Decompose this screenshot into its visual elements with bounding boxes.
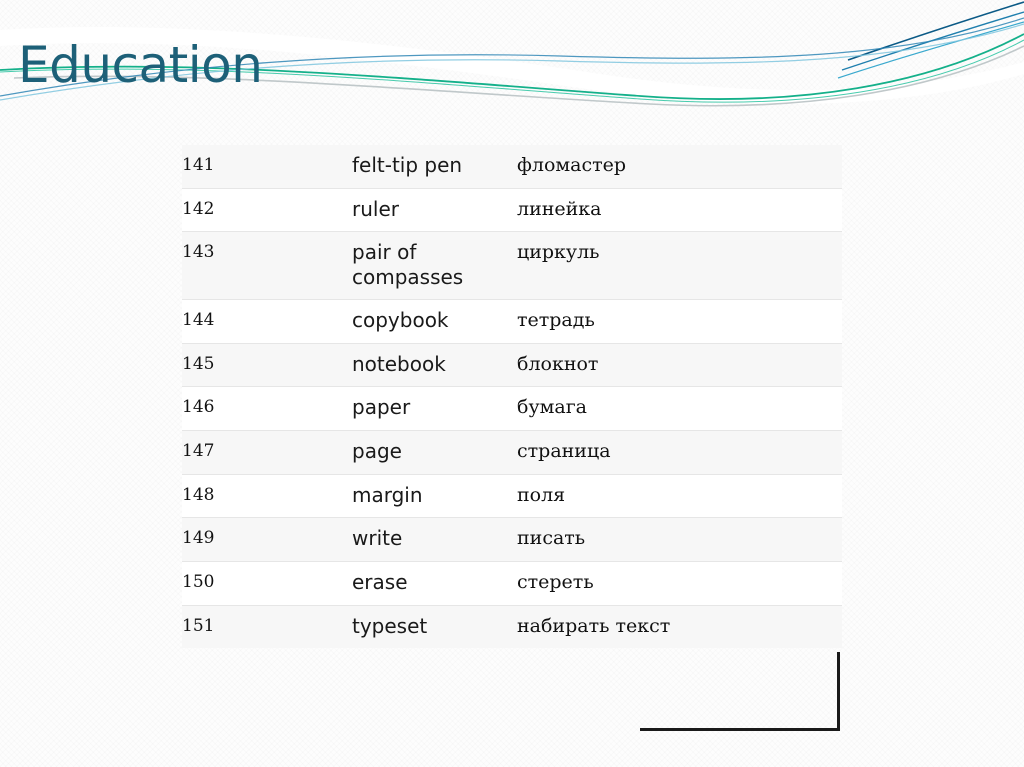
table-row: 147pageстраница xyxy=(182,430,842,474)
table-row: 145notebookблокнот xyxy=(182,343,842,387)
vocabulary-table: 141felt-tip penфломастер142rulerлинейка1… xyxy=(182,145,842,648)
row-number: 150 xyxy=(182,561,352,605)
table-row: 151typesetнабирать текст xyxy=(182,605,842,648)
row-term-russian: стереть xyxy=(517,561,842,605)
table-row: 146paperбумага xyxy=(182,387,842,431)
slide: Education 141felt-tip penфломастер142rul… xyxy=(0,0,1024,767)
corner-frame-shape xyxy=(640,652,840,731)
row-term-english: margin xyxy=(352,474,517,518)
row-term-russian: бумага xyxy=(517,387,842,431)
vocabulary-table-body: 141felt-tip penфломастер142rulerлинейка1… xyxy=(182,145,842,648)
row-term-russian: линейка xyxy=(517,188,842,232)
row-number: 148 xyxy=(182,474,352,518)
row-term-english: notebook xyxy=(352,343,517,387)
table-row: 148marginполя xyxy=(182,474,842,518)
table-row: 149writeписать xyxy=(182,518,842,562)
table-row: 142rulerлинейка xyxy=(182,188,842,232)
row-term-english: page xyxy=(352,430,517,474)
row-term-russian: страница xyxy=(517,430,842,474)
row-term-english: ruler xyxy=(352,188,517,232)
row-number: 149 xyxy=(182,518,352,562)
row-number: 145 xyxy=(182,343,352,387)
row-term-russian: блокнот xyxy=(517,343,842,387)
row-term-english: erase xyxy=(352,561,517,605)
row-number: 142 xyxy=(182,188,352,232)
row-term-english: copybook xyxy=(352,300,517,344)
row-term-russian: циркуль xyxy=(517,232,842,300)
page-title: Education xyxy=(18,36,262,94)
row-number: 147 xyxy=(182,430,352,474)
table-row: 144copybookтетрадь xyxy=(182,300,842,344)
row-term-russian: поля xyxy=(517,474,842,518)
row-number: 146 xyxy=(182,387,352,431)
row-term-russian: набирать текст xyxy=(517,605,842,648)
table-row: 150eraseстереть xyxy=(182,561,842,605)
row-term-english: felt-tip pen xyxy=(352,145,517,188)
row-term-russian: писать xyxy=(517,518,842,562)
row-term-english: paper xyxy=(352,387,517,431)
row-term-english: write xyxy=(352,518,517,562)
row-number: 143 xyxy=(182,232,352,300)
table-row: 141felt-tip penфломастер xyxy=(182,145,842,188)
row-number: 141 xyxy=(182,145,352,188)
row-term-russian: тетрадь xyxy=(517,300,842,344)
row-number: 144 xyxy=(182,300,352,344)
table-row: 143pair of compassesциркуль xyxy=(182,232,842,300)
row-term-english: typeset xyxy=(352,605,517,648)
row-term-russian: фломастер xyxy=(517,145,842,188)
row-term-english: pair of compasses xyxy=(352,232,517,300)
row-number: 151 xyxy=(182,605,352,648)
